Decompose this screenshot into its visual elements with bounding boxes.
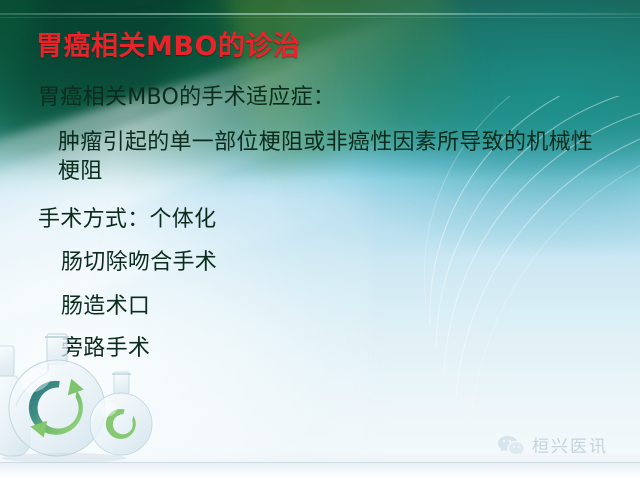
slide-canvas: 胃癌相关MBO的诊治 胃癌相关MBO的手术适应症： 肿瘤引起的单一部位梗阻或非癌… — [0, 0, 640, 480]
content-list-item-1: 肠切除吻合手术 — [61, 248, 217, 277]
content-heading-2: 手术方式：个体化 — [38, 205, 216, 234]
wechat-icon — [497, 434, 525, 456]
bottom-strip — [0, 463, 640, 480]
watermark-text: 桓兴医讯 — [532, 432, 608, 457]
watermark: 桓兴医讯 — [497, 432, 608, 457]
content-list-item-3: 旁路手术 — [61, 334, 150, 363]
content-list-item-2: 肠造术口 — [61, 292, 150, 321]
content-heading-1: 胃癌相关MBO的手术适应症： — [38, 83, 335, 112]
page-title: 胃癌相关MBO的诊治 — [36, 24, 300, 63]
content-paragraph-1: 肿瘤引起的单一部位梗阻或非癌性因素所导致的机械性梗阻 — [58, 128, 598, 186]
header-divider-line-2 — [0, 17, 640, 18]
header-divider-line — [0, 13, 640, 15]
